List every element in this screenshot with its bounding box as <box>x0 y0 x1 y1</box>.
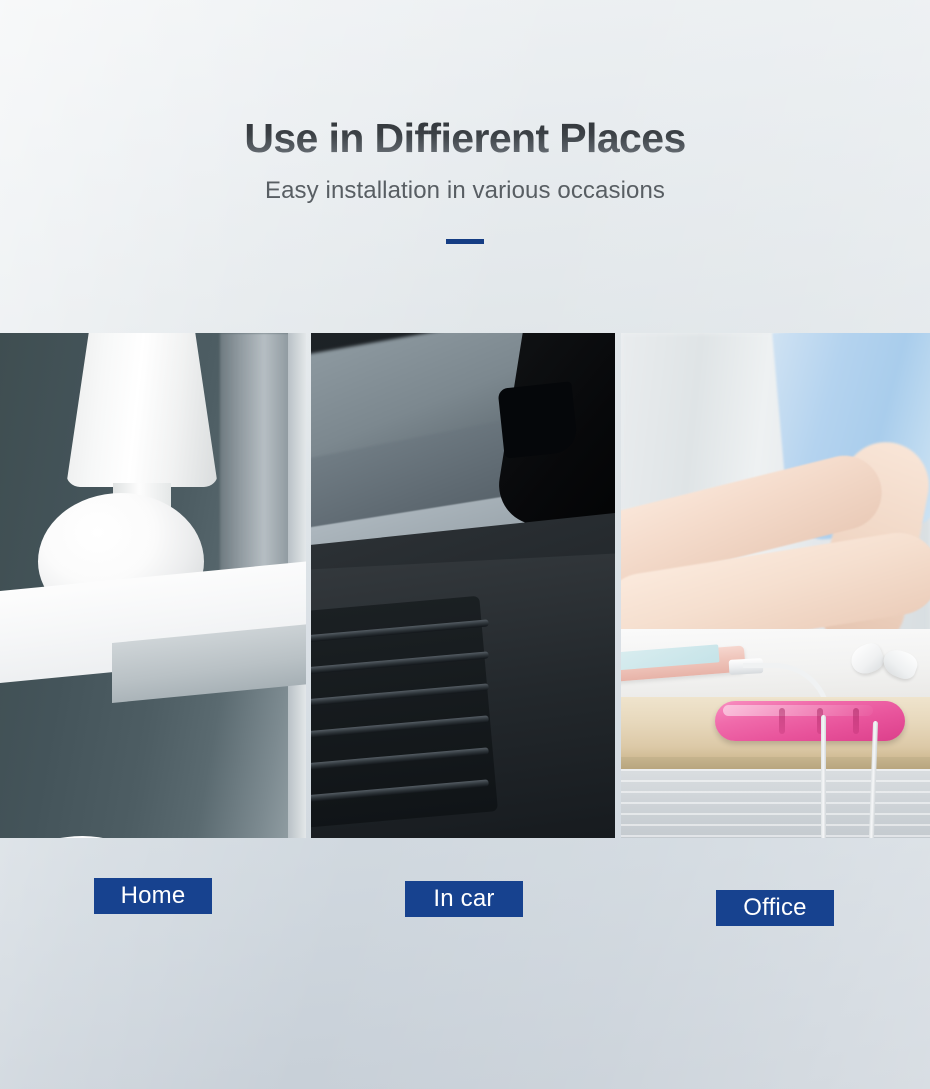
caption-label-in-car: In car <box>405 881 523 917</box>
floor-texture <box>621 769 930 838</box>
charging-cable-hanging <box>821 715 826 838</box>
caption-labels: Home In car Office <box>0 838 930 1089</box>
caption-label-office: Office <box>716 890 834 926</box>
cable-clip-highlight <box>723 705 873 716</box>
rearview-mirror <box>498 381 579 458</box>
scene-photo-office <box>621 333 930 838</box>
cable-clip-slot <box>853 708 859 734</box>
page-title: Use in Diffierent Places <box>244 118 685 159</box>
cable-clip-slot <box>779 708 785 734</box>
caption-label-home: Home <box>94 878 212 914</box>
scene-photo-car <box>311 333 615 838</box>
page-subtitle: Easy installation in various occasions <box>265 177 665 205</box>
title-divider <box>446 239 484 244</box>
lamp-shade <box>66 333 218 487</box>
header-section: Use in Diffierent Places Easy installati… <box>0 0 930 333</box>
scene-gallery <box>0 333 930 838</box>
scene-photo-home <box>0 333 306 838</box>
